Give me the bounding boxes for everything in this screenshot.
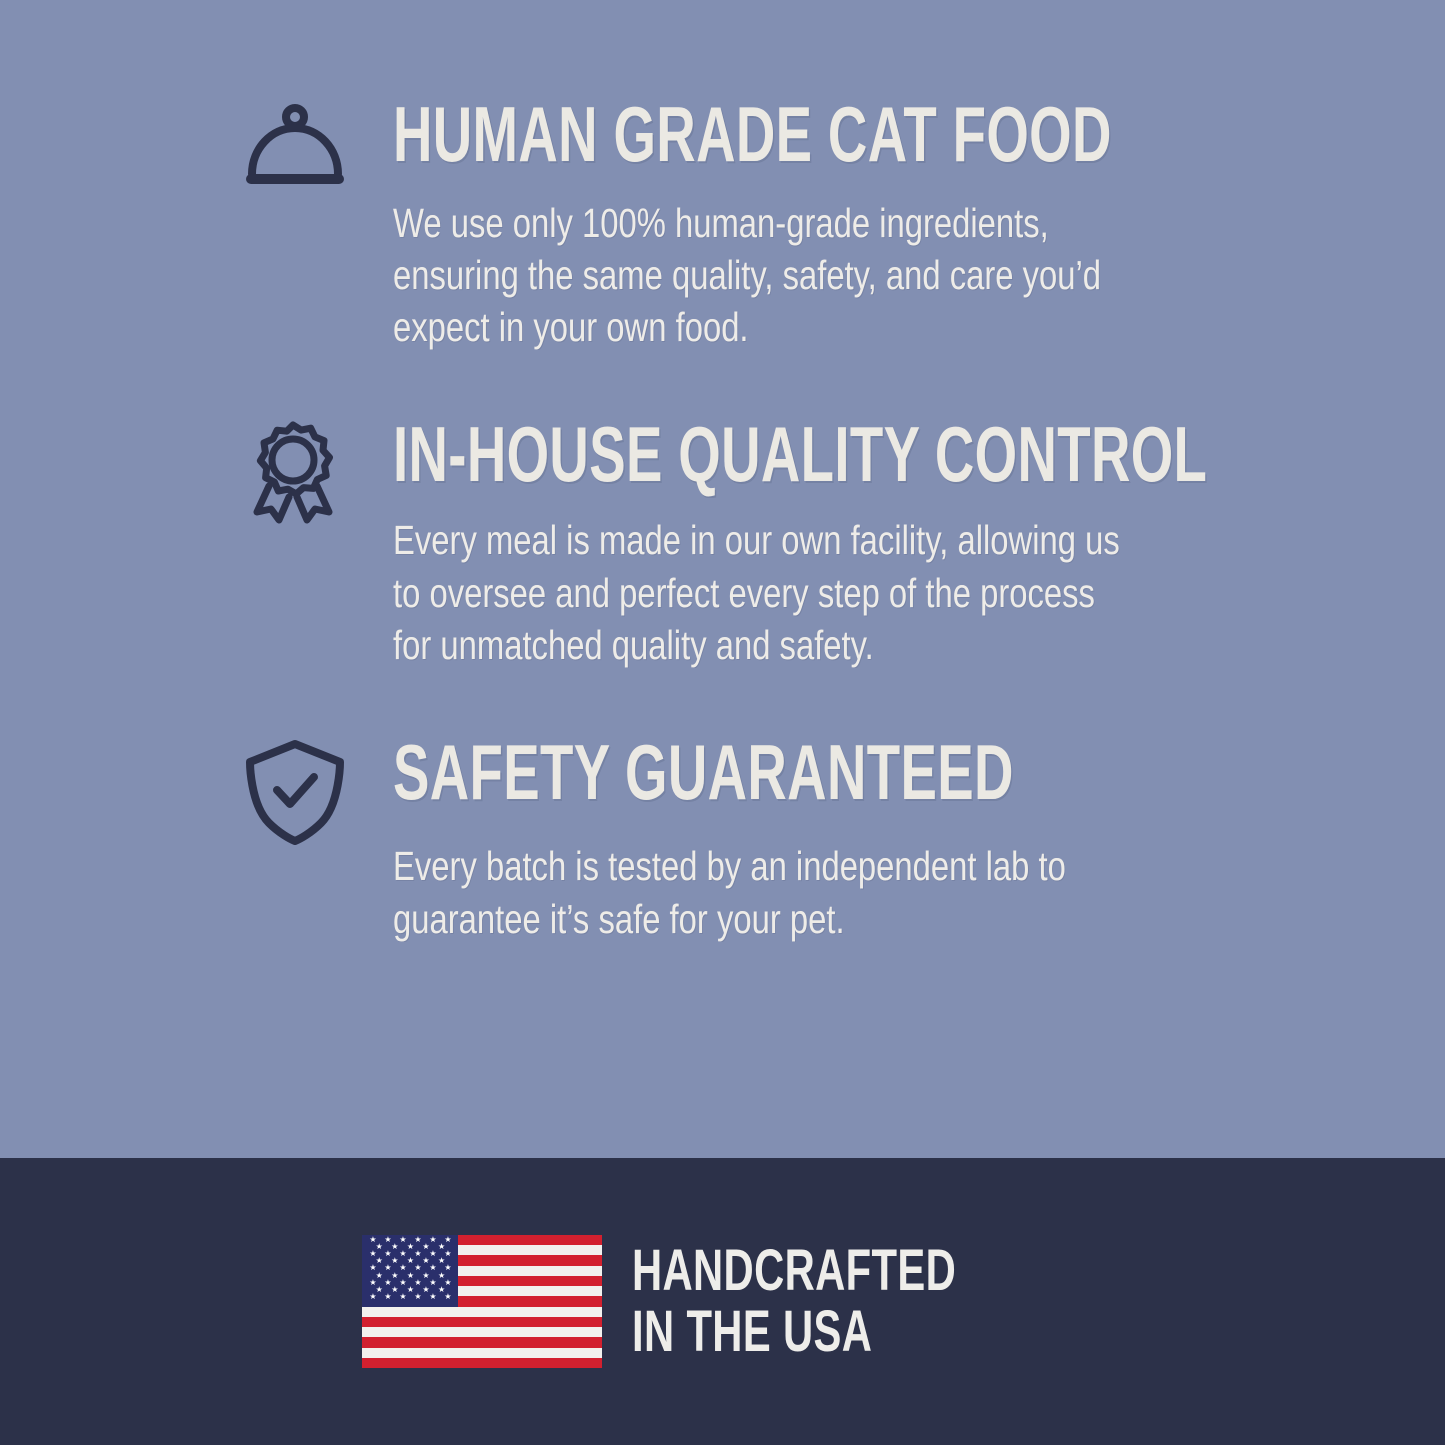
feature-body-line: ensuring the same quality, safety, and c… — [393, 249, 1209, 301]
feature-text: IN-HOUSE QUALITY CONTROL Every meal is m… — [393, 416, 1445, 672]
feature-title: IN-HOUSE QUALITY CONTROL — [393, 418, 1207, 491]
feature-body: Every meal is made in our own facility, … — [393, 514, 1209, 671]
feature-body-line: We use only 100% human-grade ingredients… — [393, 197, 1209, 249]
feature-safety-guaranteed: SAFETY GUARANTEED Every batch is tested … — [0, 734, 1445, 945]
handcrafted-in-usa-label: HANDCRAFTED IN THE USA — [632, 1241, 956, 1362]
feature-body-line: expect in your own food. — [393, 301, 1209, 353]
usa-flag-icon: ★★★★★★ ★★★★★ ★★★★★★ ★★★★★ ★★★★★★ ★★★★★ ★… — [362, 1235, 602, 1368]
feature-text: SAFETY GUARANTEED Every batch is tested … — [393, 734, 1445, 945]
feature-body: We use only 100% human-grade ingredients… — [393, 197, 1209, 354]
feature-title: HUMAN GRADE CAT FOOD — [393, 98, 1129, 171]
award-rosette-icon — [243, 416, 393, 526]
footer-made-in-usa: ★★★★★★ ★★★★★ ★★★★★★ ★★★★★ ★★★★★★ ★★★★★ ★… — [0, 1158, 1445, 1445]
flag-stars: ★★★★★★ ★★★★★ ★★★★★★ ★★★★★ ★★★★★★ ★★★★★ ★… — [362, 1235, 458, 1307]
feature-body-line: Every batch is tested by an independent … — [393, 840, 1209, 892]
badge-line-2: IN THE USA — [632, 1302, 956, 1362]
badge-line-1: HANDCRAFTED — [632, 1241, 956, 1301]
feature-in-house-quality-control: IN-HOUSE QUALITY CONTROL Every meal is m… — [0, 416, 1445, 672]
feature-text: HUMAN GRADE CAT FOOD We use only 100% hu… — [393, 96, 1445, 354]
features-list: HUMAN GRADE CAT FOOD We use only 100% hu… — [0, 0, 1445, 1158]
feature-body-line: Every meal is made in our own facility, … — [393, 514, 1209, 566]
shield-check-icon — [243, 734, 393, 846]
feature-human-grade-cat-food: HUMAN GRADE CAT FOOD We use only 100% hu… — [0, 96, 1445, 354]
feature-body: Every batch is tested by an independent … — [393, 840, 1209, 945]
feature-body-line: to oversee and perfect every step of the… — [393, 567, 1209, 619]
feature-title: SAFETY GUARANTEED — [393, 736, 1129, 809]
feature-body-line: guarantee it’s safe for your pet. — [393, 893, 1209, 945]
cloche-icon — [243, 96, 393, 192]
feature-body-line: for unmatched quality and safety. — [393, 619, 1209, 671]
infographic-panel: HUMAN GRADE CAT FOOD We use only 100% hu… — [0, 0, 1445, 1445]
